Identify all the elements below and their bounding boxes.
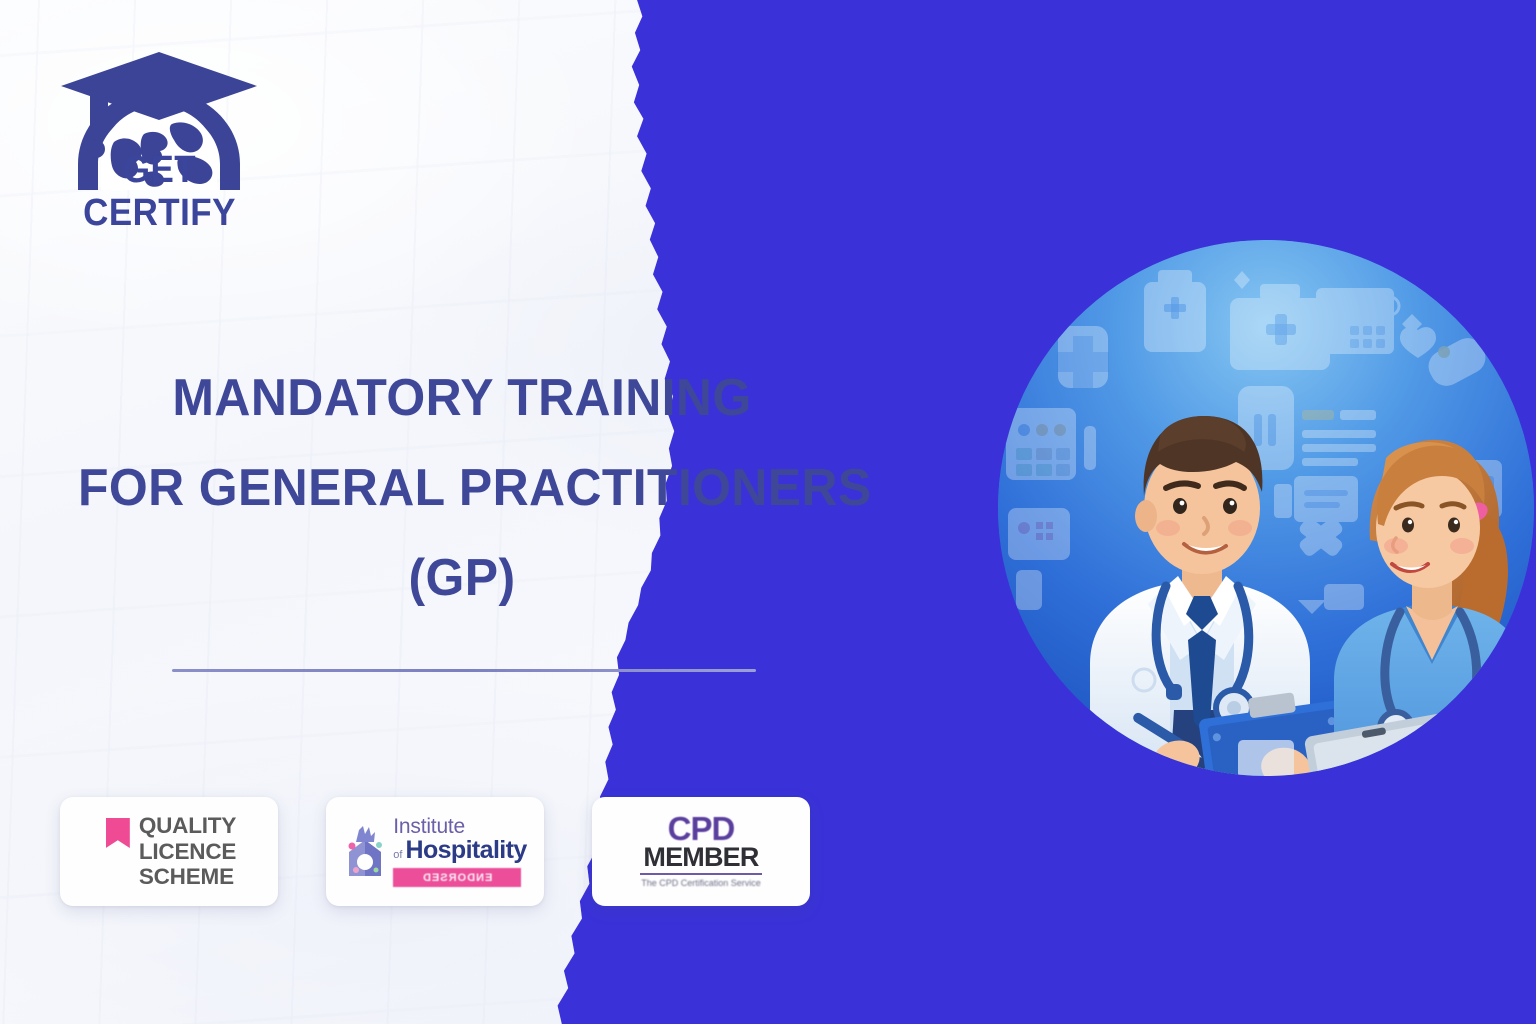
ioh-line-1: Institute bbox=[393, 816, 465, 837]
cpd-underline bbox=[640, 873, 762, 875]
brand-logo[interactable]: GET CERTIFY bbox=[52, 46, 267, 241]
cpd-title: CPD bbox=[668, 814, 735, 844]
page-title: MANDATORY TRAINING FOR GENERAL PRACTITIO… bbox=[62, 372, 862, 604]
cpd-subtitle: The CPD Certification Service bbox=[641, 878, 761, 889]
ioh-line-2: Hospitality bbox=[405, 838, 526, 863]
qls-line-1: QUALITY bbox=[139, 813, 236, 839]
brand-logo-text: GET CERTIFY bbox=[61, 149, 259, 235]
title-line-1: MANDATORY TRAINING bbox=[78, 372, 846, 424]
promo-banner: GET CERTIFY MANDATORY TRAINING FOR GENER… bbox=[0, 0, 1536, 1024]
institute-crest-icon bbox=[343, 824, 387, 880]
badge-cpd-member[interactable]: CPD MEMBER The CPD Certification Service bbox=[592, 797, 810, 906]
title-line-2: FOR GENERAL PRACTITIONERS bbox=[78, 462, 846, 514]
qls-line-2: LICENCE bbox=[139, 839, 236, 865]
ioh-endorsed-banner: ENDORSED bbox=[393, 868, 521, 887]
accreditation-badges: QUALITY LICENCE SCHEME bbox=[60, 797, 810, 906]
title-divider bbox=[172, 669, 756, 672]
cpd-member-label: MEMBER bbox=[643, 844, 758, 871]
badge-quality-licence-scheme[interactable]: QUALITY LICENCE SCHEME bbox=[60, 797, 278, 906]
doctor-and-nurse-illustration bbox=[998, 240, 1534, 776]
ioh-of: of bbox=[393, 849, 402, 861]
title-line-3: (GP) bbox=[78, 552, 846, 604]
ioh-banner-text: ENDORSED bbox=[422, 872, 492, 884]
medical-scene-graphic bbox=[998, 240, 1534, 776]
bookmark-icon bbox=[106, 818, 130, 848]
qls-line-3: SCHEME bbox=[139, 864, 236, 890]
badge-institute-of-hospitality[interactable]: Institute of Hospitality ENDORSED bbox=[326, 797, 544, 906]
